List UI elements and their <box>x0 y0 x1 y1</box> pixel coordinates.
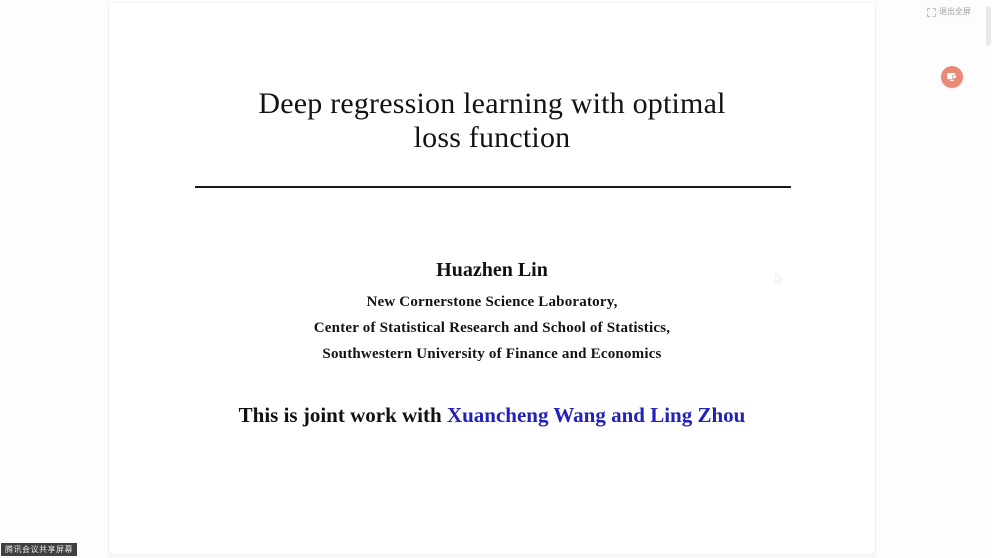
slide-title: Deep regression learning with optimal lo… <box>109 87 875 155</box>
slide-title-line-1: Deep regression learning with optimal <box>169 87 815 121</box>
joint-work-collaborators: Xuancheng Wang and Ling Zhou <box>447 403 745 427</box>
slide-content: Deep regression learning with optimal lo… <box>109 3 875 553</box>
scrollbar-thumb[interactable] <box>986 6 991 46</box>
affiliation-list: New Cornerstone Science Laboratory, Cent… <box>109 289 875 367</box>
author-name: Huazhen Lin <box>109 258 875 282</box>
presentation-slide[interactable]: Deep regression learning with optimal lo… <box>108 2 876 553</box>
screen-share-icon <box>946 71 958 83</box>
exit-fullscreen-label: 退出全屏 <box>939 7 971 17</box>
screen-share-watermark: 腾讯会议共享屏幕 <box>1 543 77 556</box>
screen-share-floating-button[interactable] <box>941 66 963 88</box>
joint-work-prefix: This is joint work with <box>239 403 447 427</box>
page-scrollbar[interactable] <box>985 0 992 558</box>
mouse-pointer-icon <box>775 273 783 285</box>
screen-viewport: Deep regression learning with optimal lo… <box>0 0 992 558</box>
joint-work-line: This is joint work with Xuancheng Wang a… <box>109 401 875 429</box>
slide-title-line-2: loss function <box>169 121 815 155</box>
title-divider-rule <box>195 186 791 188</box>
affiliation-line: Center of Statistical Research and Schoo… <box>109 315 875 341</box>
slide-bottom-strip <box>108 553 876 558</box>
exit-fullscreen-button[interactable]: 退出全屏 <box>923 5 975 19</box>
affiliation-line: Southwestern University of Finance and E… <box>109 341 875 367</box>
watermark-label: 腾讯会议共享屏幕 <box>5 543 73 556</box>
exit-fullscreen-icon <box>927 8 936 17</box>
affiliation-line: New Cornerstone Science Laboratory, <box>109 289 875 315</box>
